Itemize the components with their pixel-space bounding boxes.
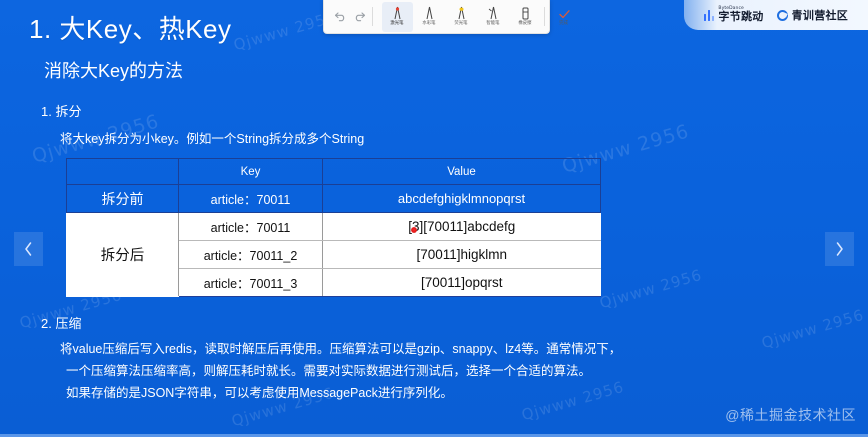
slide-viewer: Qjwww 2956 Qjwww 2956 Qjwww 2956 Qjwww 2… bbox=[0, 0, 868, 437]
tool-label: 橡皮擦 bbox=[518, 21, 531, 27]
row-key: article：70011 bbox=[179, 213, 323, 241]
tool-label: 完成 bbox=[560, 21, 569, 27]
community-watermark: @稀土掘金技术社区 bbox=[725, 405, 856, 425]
bytedance-cn-label: 字节跳动 bbox=[718, 12, 763, 23]
watercolor-pen-icon bbox=[423, 6, 436, 21]
key-split-table: Key Value 拆分前 article：70011 abcdefghigkl… bbox=[66, 158, 601, 297]
prev-slide-button[interactable] bbox=[14, 232, 43, 266]
chevron-left-icon bbox=[23, 241, 34, 257]
tool-watercolor-pen[interactable]: 水彩笔 bbox=[414, 2, 445, 32]
pen-tools: 激光笔 水彩笔 荧光笔 智能笔 bbox=[381, 0, 580, 33]
page-title: 1. 大Key、热Key bbox=[29, 9, 232, 46]
undo-icon[interactable] bbox=[331, 6, 350, 28]
ring-icon bbox=[777, 10, 788, 21]
toolbar-divider bbox=[372, 7, 373, 26]
redo-icon[interactable] bbox=[350, 6, 369, 28]
section-2-line: 一个压缩算法压缩率高，则解压耗时就长。需要对实际数据进行测试后，选择一个合适的算… bbox=[60, 360, 860, 382]
bytedance-logo: ByteDance 字节跳动 bbox=[704, 7, 764, 23]
tool-laser-pen[interactable]: 激光笔 bbox=[382, 2, 413, 32]
row-label: 拆分前 bbox=[67, 185, 179, 213]
row-key: article：70011_3 bbox=[179, 269, 323, 297]
row-value: [70011]opqrst bbox=[323, 269, 601, 297]
highlighter-pen-icon bbox=[455, 6, 468, 21]
table-header-blank bbox=[67, 159, 179, 185]
table-header-row: Key Value bbox=[67, 159, 601, 185]
table-header-key: Key bbox=[179, 159, 323, 185]
section-2-line: 将value压缩后写入redis，读取时解压后再使用。压缩算法可以是gzip、s… bbox=[60, 338, 860, 360]
table-header-value: Value bbox=[323, 159, 601, 185]
chevron-right-icon bbox=[834, 241, 845, 257]
page-subtitle: 消除大Key的方法 bbox=[44, 57, 183, 83]
section-2-heading: 2. 压缩 bbox=[41, 313, 81, 332]
laser-pen-icon bbox=[391, 6, 404, 21]
table-row: 拆分后 article：70011 [3][70011]abcdefg bbox=[67, 213, 601, 241]
tool-done[interactable]: 完成 bbox=[549, 2, 580, 32]
tool-label: 荧光笔 bbox=[454, 21, 467, 27]
tool-label: 激光笔 bbox=[390, 21, 403, 27]
section-2-line: 如果存储的是JSON字符串，可以考虑使用MessagePack进行序列化。 bbox=[60, 382, 860, 404]
tool-eraser[interactable]: 橡皮擦 bbox=[510, 2, 541, 32]
brand-bar: ByteDance 字节跳动 青训营社区 bbox=[684, 0, 868, 30]
annotation-toolbar[interactable]: 激光笔 水彩笔 荧光笔 智能笔 bbox=[323, 0, 550, 34]
smart-pen-icon bbox=[487, 6, 500, 21]
bytedance-bars-icon bbox=[704, 9, 715, 21]
next-slide-button[interactable] bbox=[825, 232, 854, 266]
section-1-heading: 1. 拆分 bbox=[41, 101, 81, 120]
row-value: abcdefghigklmnopqrst bbox=[323, 185, 601, 213]
section-2-body: 将value压缩后写入redis，读取时解压后再使用。压缩算法可以是gzip、s… bbox=[60, 338, 860, 404]
row-key: article：70011 bbox=[179, 185, 323, 213]
qingxunying-label: 青训营社区 bbox=[792, 7, 849, 23]
tool-label: 智能笔 bbox=[486, 21, 499, 27]
row-key: article：70011_2 bbox=[179, 241, 323, 269]
check-icon bbox=[558, 6, 571, 21]
tool-label: 水彩笔 bbox=[422, 21, 435, 27]
eraser-icon bbox=[519, 6, 532, 21]
section-1-body: 将大key拆分为小key。例如一个String拆分成多个String bbox=[60, 128, 364, 147]
row-value: [3][70011]abcdefg bbox=[323, 213, 601, 241]
history-controls bbox=[324, 0, 381, 33]
laser-pointer-dot bbox=[411, 227, 417, 233]
row-value: [70011]higklmn bbox=[323, 241, 601, 269]
tool-highlighter-pen[interactable]: 荧光笔 bbox=[446, 2, 477, 32]
table-row: 拆分前 article：70011 abcdefghigklmnopqrst bbox=[67, 185, 601, 213]
qingxunying-logo: 青训营社区 bbox=[777, 7, 849, 23]
tool-smart-pen[interactable]: 智能笔 bbox=[478, 2, 509, 32]
row-label-merged: 拆分后 bbox=[67, 213, 179, 297]
toolbar-divider bbox=[544, 7, 545, 26]
